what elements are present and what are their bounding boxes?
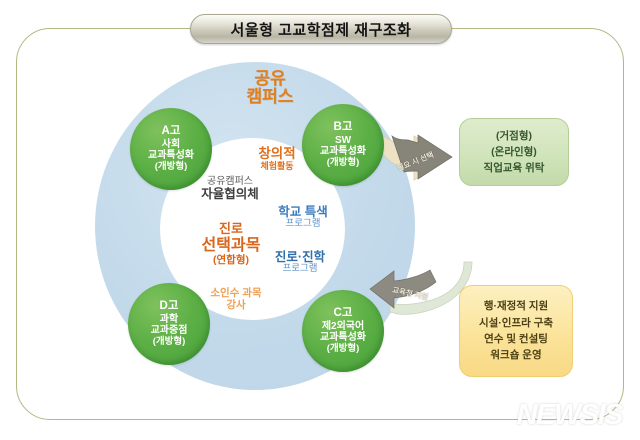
- school-b-type: (개방형): [327, 158, 360, 169]
- shared-campus-line1: 공유: [210, 70, 330, 88]
- green-box-line1: (거점형): [496, 128, 532, 144]
- school-circle-d[interactable]: D고 과학 교과중점 (개방형): [128, 283, 210, 365]
- center-label-career-program: 진로·진학 프로그램: [252, 250, 348, 275]
- school-c-line2: 제2외국어: [322, 321, 364, 332]
- school-circle-c[interactable]: C고 제2외국어 교과특성화 (개방형): [302, 290, 384, 372]
- school-d-code: D고: [160, 300, 179, 313]
- school-b-line2: SW: [335, 135, 351, 146]
- box-vocational-delegation[interactable]: (거점형) (온라인형) 직업교육 위탁: [459, 118, 569, 186]
- newsis-watermark: NEWSIS: [517, 399, 622, 432]
- yellow-box-line2: 시설·인프라 구축: [479, 315, 553, 331]
- school-b-code: B고: [334, 121, 353, 134]
- yellow-box-line1: 행·재정적 지원: [484, 298, 548, 314]
- box-administrative-support[interactable]: 행·재정적 지원 시설·인프라 구축 연수 및 컨설팅 워크숍 운영: [459, 285, 573, 377]
- school-b-line3: 교과특성화: [320, 146, 366, 157]
- school-a-code: A고: [162, 125, 181, 138]
- school-d-line2: 과학: [160, 314, 178, 325]
- school-a-line3: 교과특성화: [148, 150, 194, 161]
- yellow-box-line3: 연수 및 컨설팅: [484, 331, 548, 347]
- school-a-line2: 사회: [162, 139, 180, 150]
- yellow-box-line4: 워크숍 운영: [490, 347, 541, 363]
- school-d-type: (개방형): [153, 337, 186, 348]
- council-title: 자율협의체: [178, 187, 282, 201]
- school-feature-subtitle: 프로그램: [258, 219, 348, 230]
- school-c-type: (개방형): [327, 344, 360, 355]
- green-box-line3: 직업교육 위탁: [484, 160, 545, 176]
- career-subtitle: 프로그램: [252, 264, 348, 275]
- school-c-code: C고: [334, 307, 353, 320]
- school-circle-b[interactable]: B고 SW 교과특성화 (개방형): [302, 104, 384, 186]
- page-title: 서울형 고교학점제 재구조화: [231, 19, 412, 40]
- shared-campus-line2: 캠퍼스: [210, 88, 330, 106]
- school-circle-a[interactable]: A고 사회 교과특성화 (개방형): [130, 108, 212, 190]
- school-c-line3: 교과특성화: [320, 332, 366, 343]
- school-a-type: (개방형): [155, 162, 188, 173]
- diagram-canvas: 서울형 고교학점제 재구조화 공유 캠퍼스 창의적 체험활동 공유캠퍼스 자율협…: [0, 0, 640, 440]
- school-d-line3: 교과중점: [151, 325, 188, 336]
- shared-campus-heading: 공유 캠퍼스: [210, 70, 330, 107]
- title-banner: 서울형 고교학점제 재구조화: [190, 14, 452, 44]
- green-box-line2: (온라인형): [491, 144, 537, 160]
- center-label-school-feature-program: 학교 특색 프로그램: [258, 205, 348, 230]
